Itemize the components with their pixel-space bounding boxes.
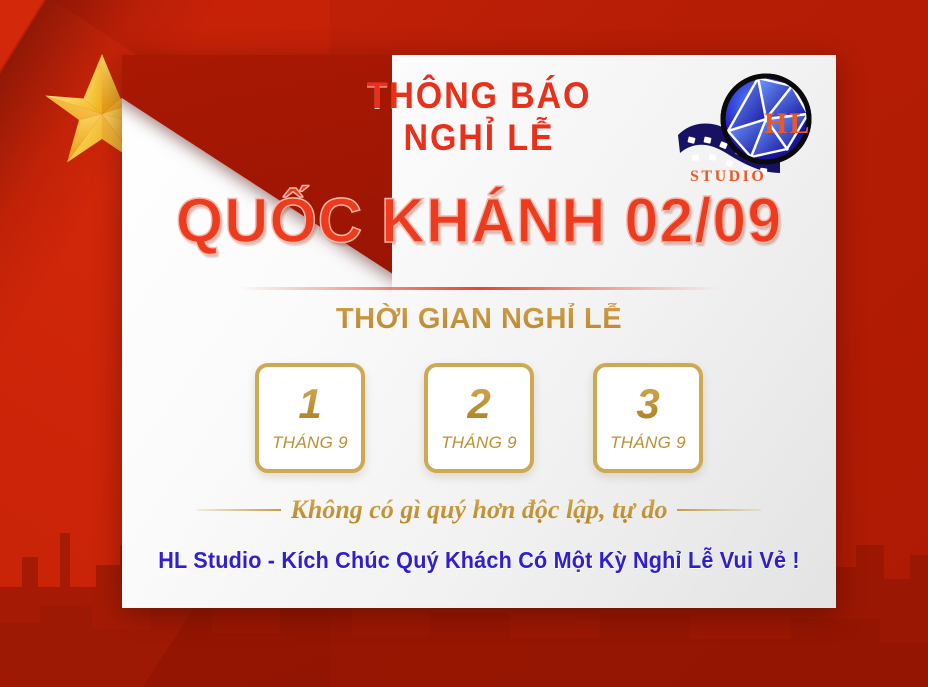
slogan-rule-right (677, 509, 761, 511)
date-day: 3 (636, 383, 659, 425)
page-title: QUỐC KHÁNH 02/09 (133, 185, 826, 257)
announcement-card: HL STUDIO THÔNG BÁO NGHỈ LỄ QUỐC KHÁNH 0… (122, 55, 836, 608)
date-box: 1 THÁNG 9 (255, 363, 365, 473)
logo-sub-text: STUDIO (690, 168, 766, 185)
slogan-row: Không có gì quý hơn độc lập, tự do (122, 495, 836, 525)
slogan-rule-left (197, 509, 281, 511)
section-subtitle: THỜI GIAN NGHỈ LỄ (122, 303, 836, 336)
slogan-text: Không có gì quý hơn độc lập, tự do (291, 495, 668, 525)
date-month: THÁNG 9 (610, 433, 686, 453)
heading-line-1: THÔNG BÁO (151, 77, 808, 115)
date-box: 3 THÁNG 9 (593, 363, 703, 473)
heading-line-2: NGHỈ LỄ (151, 119, 808, 157)
date-month: THÁNG 9 (441, 433, 517, 453)
date-box: 2 THÁNG 9 (424, 363, 534, 473)
footer-greeting: HL Studio - Kích Chúc Quý Khách Có Một K… (143, 547, 814, 574)
card-heading-block: THÔNG BÁO NGHỈ LỄ (122, 77, 836, 158)
red-divider (239, 287, 719, 290)
holiday-date-list: 1 THÁNG 9 2 THÁNG 9 3 THÁNG 9 (122, 363, 836, 473)
date-day: 1 (298, 383, 321, 425)
holiday-announcement-poster: HL STUDIO THÔNG BÁO NGHỈ LỄ QUỐC KHÁNH 0… (0, 0, 928, 687)
date-month: THÁNG 9 (272, 433, 348, 453)
date-day: 2 (467, 383, 490, 425)
